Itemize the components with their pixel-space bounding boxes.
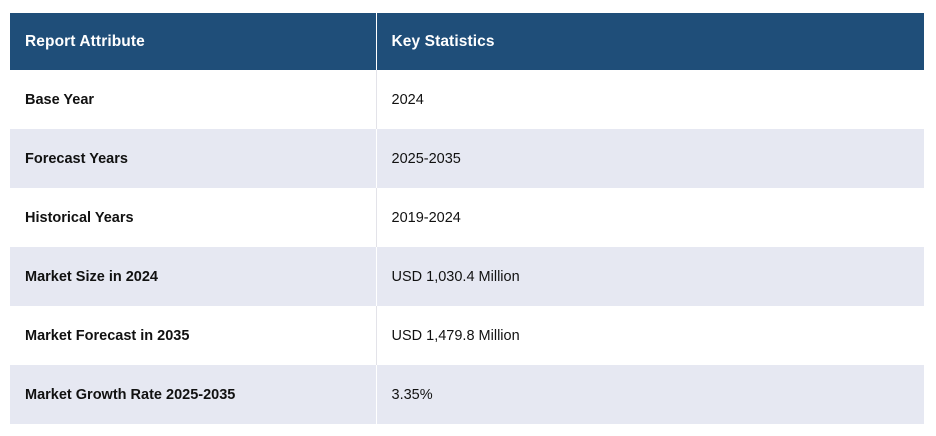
table-row: Market Forecast in 2035 USD 1,479.8 Mill…: [10, 306, 924, 365]
row-label-market-forecast-2035: Market Forecast in 2035: [10, 306, 376, 365]
table-header-row: Report Attribute Key Statistics: [10, 13, 924, 70]
table-row: Market Growth Rate 2025-2035 3.35%: [10, 365, 924, 424]
table-header: Report Attribute Key Statistics: [10, 13, 924, 70]
column-header-report-attribute: Report Attribute: [10, 13, 376, 70]
row-value-market-growth-rate: 3.35%: [376, 365, 924, 424]
row-value-historical-years: 2019-2024: [376, 188, 924, 247]
table-row: Historical Years 2019-2024: [10, 188, 924, 247]
table-row: Market Size in 2024 USD 1,030.4 Million: [10, 247, 924, 306]
table-row: Base Year 2024: [10, 70, 924, 129]
row-value-base-year: 2024: [376, 70, 924, 129]
page-root: Report Attribute Key Statistics Base Yea…: [0, 0, 936, 436]
row-label-market-growth-rate: Market Growth Rate 2025-2035: [10, 365, 376, 424]
row-label-forecast-years: Forecast Years: [10, 129, 376, 188]
row-label-historical-years: Historical Years: [10, 188, 376, 247]
column-header-key-statistics: Key Statistics: [376, 13, 924, 70]
row-label-market-size-2024: Market Size in 2024: [10, 247, 376, 306]
table-body: Base Year 2024 Forecast Years 2025-2035 …: [10, 70, 924, 424]
row-value-market-size-2024: USD 1,030.4 Million: [376, 247, 924, 306]
report-key-statistics-table: Report Attribute Key Statistics Base Yea…: [10, 13, 924, 424]
row-label-base-year: Base Year: [10, 70, 376, 129]
row-value-forecast-years: 2025-2035: [376, 129, 924, 188]
row-value-market-forecast-2035: USD 1,479.8 Million: [376, 306, 924, 365]
table-row: Forecast Years 2025-2035: [10, 129, 924, 188]
